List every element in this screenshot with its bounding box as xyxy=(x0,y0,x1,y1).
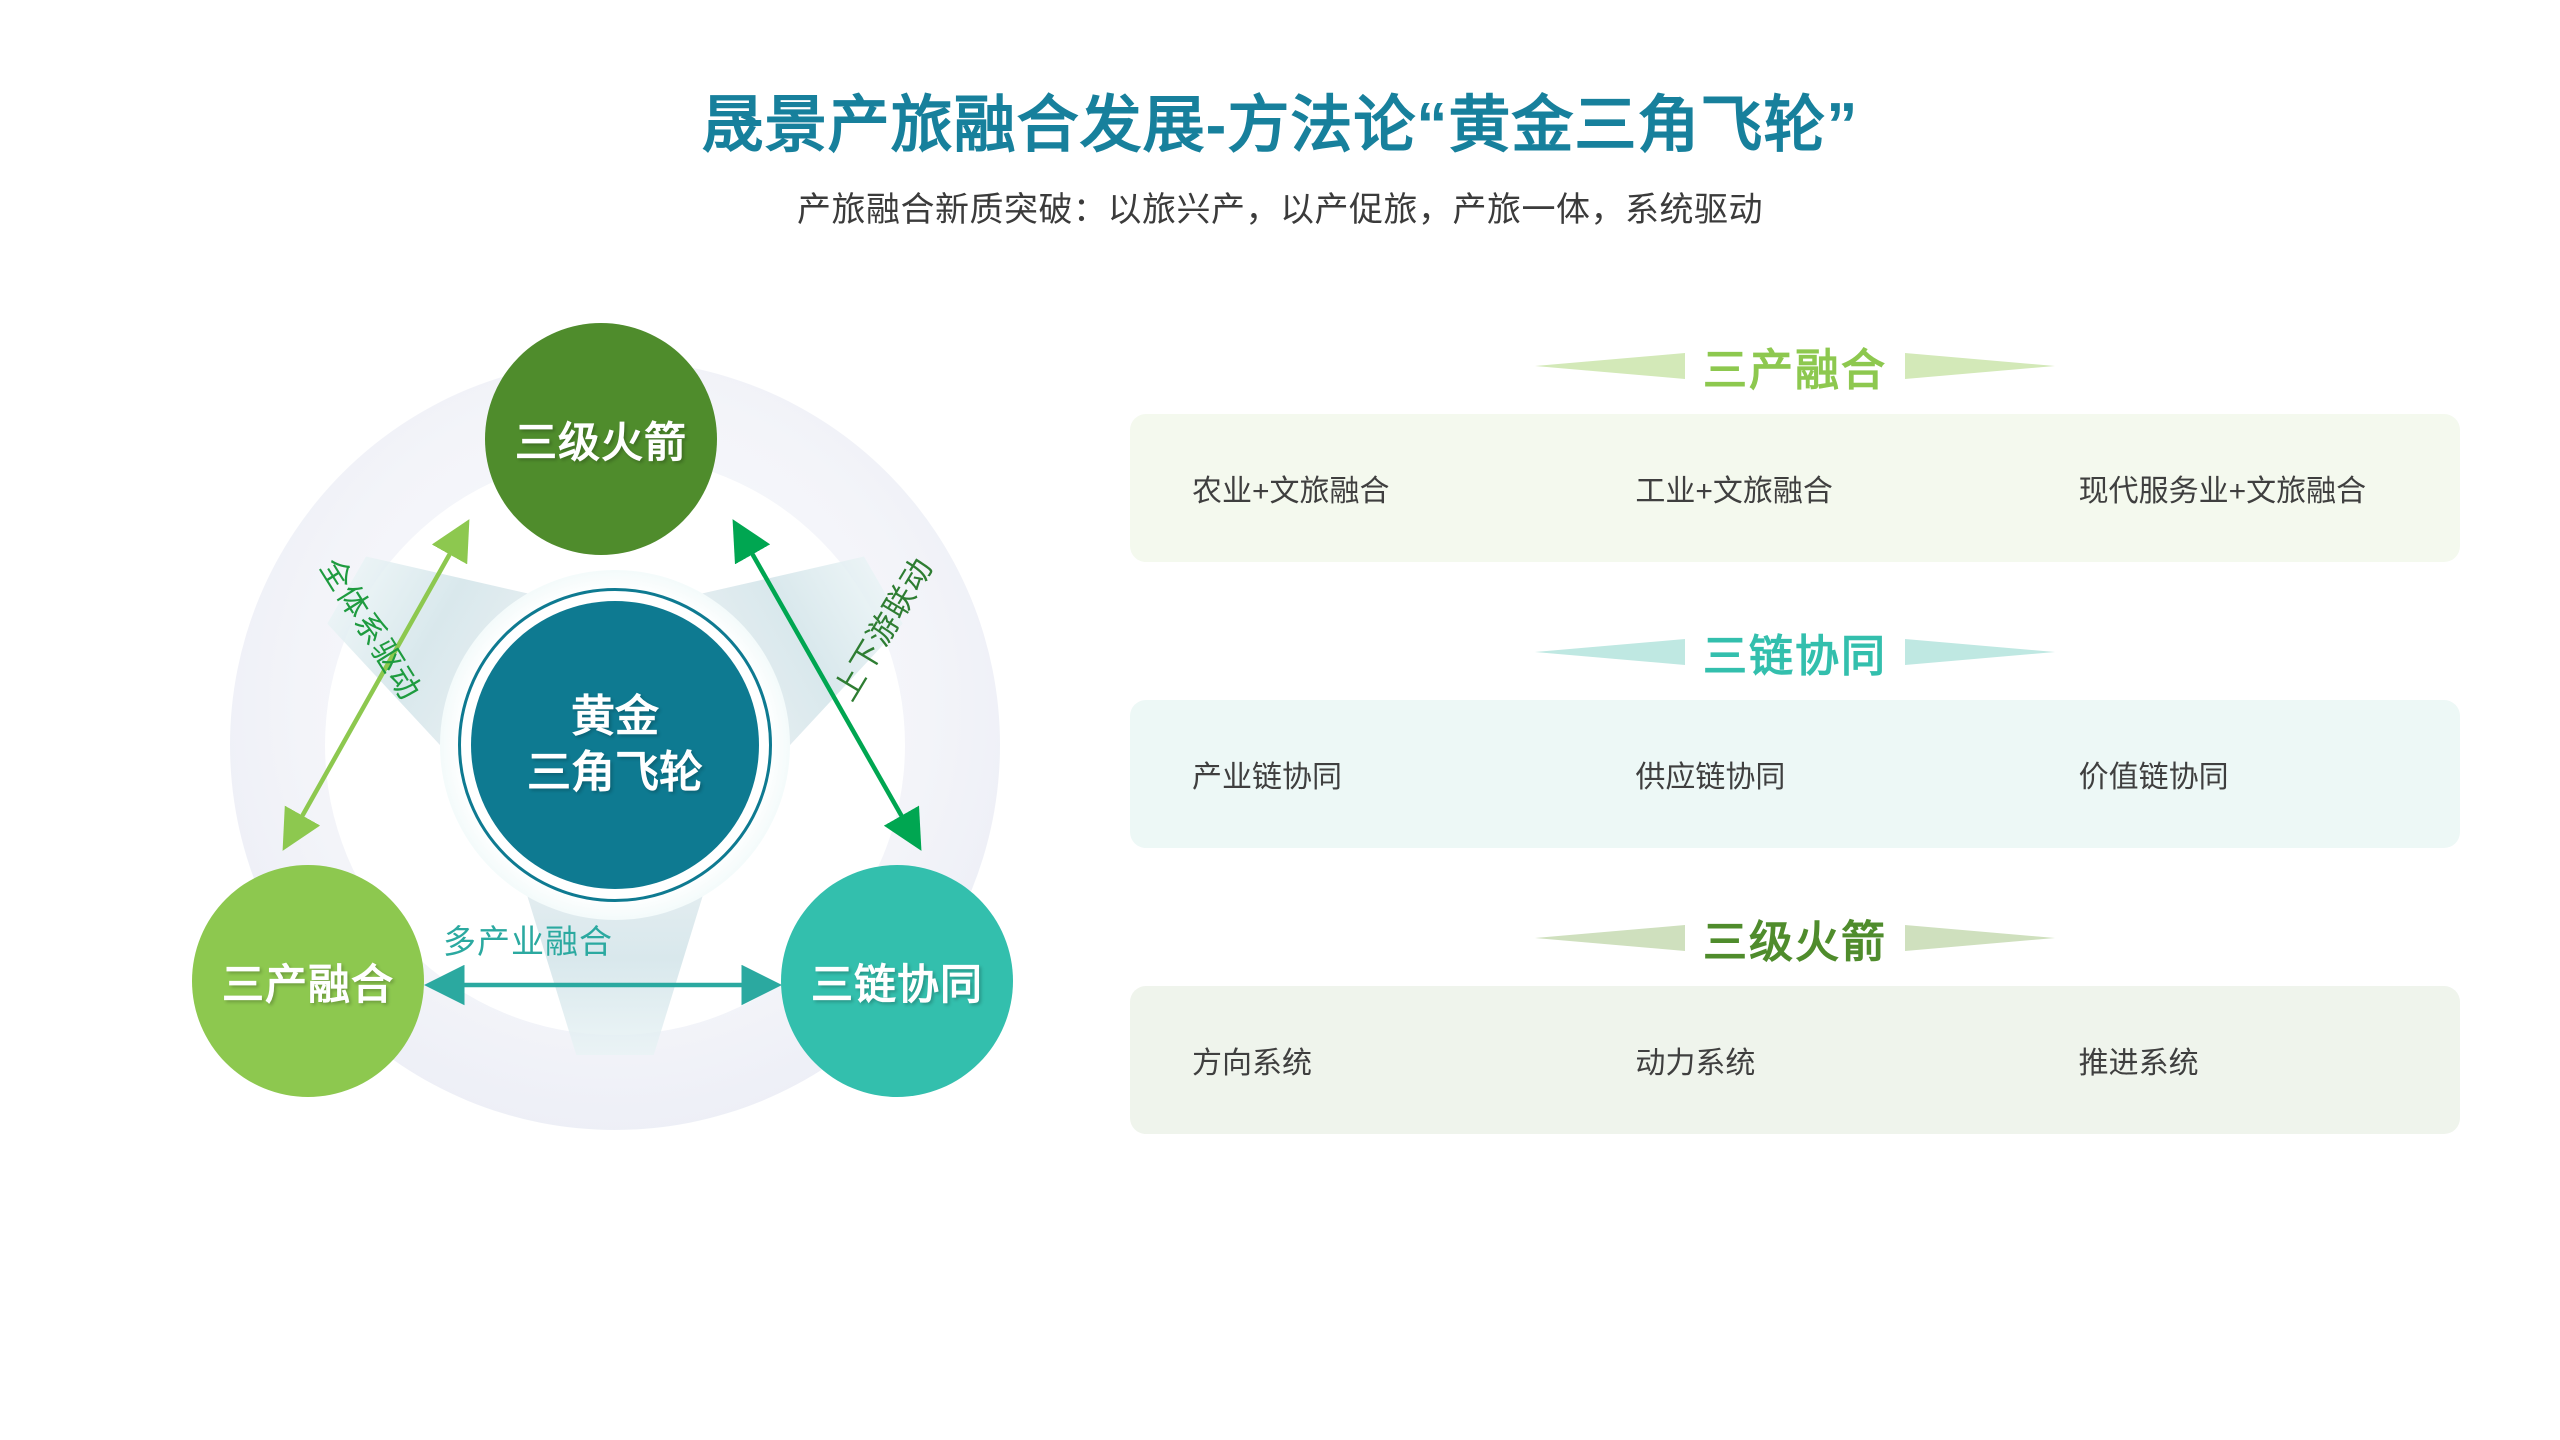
section-title: 三链协同 xyxy=(1703,620,1887,684)
node-three-chain-synergy[interactable]: 三链协同 xyxy=(781,865,1013,1097)
section-three-industry-integration: 三产融合 农业+文旅融合 工业+文旅融合 现代服务业+文旅融合 xyxy=(1130,330,2460,562)
node-three-industry-integration[interactable]: 三产融合 xyxy=(192,865,424,1097)
page-title: 晟景产旅融合发展-方法论“黄金三角飞轮” xyxy=(0,92,2560,160)
center-node-label-line2: 三角飞轮 xyxy=(527,745,703,801)
card-item[interactable]: 动力系统 xyxy=(1573,1038,2016,1082)
card-item[interactable]: 方向系统 xyxy=(1130,1038,1573,1082)
card-item[interactable]: 工业+文旅融合 xyxy=(1573,466,2016,510)
card-item[interactable]: 现代服务业+文旅融合 xyxy=(2017,466,2460,510)
section-header: 三级火箭 xyxy=(1130,902,2460,974)
wedge-left-icon xyxy=(1535,353,1685,379)
node-three-stage-rocket[interactable]: 三级火箭 xyxy=(485,323,717,555)
section-header: 三产融合 xyxy=(1130,330,2460,402)
center-node-golden-triangle-flywheel[interactable]: 黄金 三角飞轮 xyxy=(471,601,759,889)
section-header: 三链协同 xyxy=(1130,616,2460,688)
section-three-chain-synergy: 三链协同 产业链协同 供应链协同 价值链协同 xyxy=(1130,616,2460,848)
edge-label-bottom: 多产业融合 xyxy=(443,915,613,963)
center-node-label-line1: 黄金 xyxy=(571,689,659,745)
page-header: 晟景产旅融合发展-方法论“黄金三角飞轮” 产旅融合新质突破：以旅兴产，以产促旅，… xyxy=(0,92,2560,231)
wedge-left-icon xyxy=(1535,925,1685,951)
wedge-right-icon xyxy=(1905,639,2055,665)
card-item[interactable]: 农业+文旅融合 xyxy=(1130,466,1573,510)
section-title: 三产融合 xyxy=(1703,334,1887,398)
card-item[interactable]: 产业链协同 xyxy=(1130,752,1573,796)
section-title: 三级火箭 xyxy=(1703,906,1887,970)
card-item[interactable]: 供应链协同 xyxy=(1573,752,2016,796)
card-item[interactable]: 推进系统 xyxy=(2017,1038,2460,1082)
page-subtitle: 产旅融合新质突破：以旅兴产，以产促旅，产旅一体，系统驱动 xyxy=(0,182,2560,231)
wedge-right-icon xyxy=(1905,353,2055,379)
section-three-stage-rocket: 三级火箭 方向系统 动力系统 推进系统 xyxy=(1130,902,2460,1134)
pillars-panel: 三产融合 农业+文旅融合 工业+文旅融合 现代服务业+文旅融合 三链协同 产业链… xyxy=(1130,330,2460,1134)
wedge-right-icon xyxy=(1905,925,2055,951)
section-card: 方向系统 动力系统 推进系统 xyxy=(1130,986,2460,1134)
section-card: 产业链协同 供应链协同 价值链协同 xyxy=(1130,700,2460,848)
section-card: 农业+文旅融合 工业+文旅融合 现代服务业+文旅融合 xyxy=(1130,414,2460,562)
card-item[interactable]: 价值链协同 xyxy=(2017,752,2460,796)
wedge-left-icon xyxy=(1535,639,1685,665)
golden-triangle-flywheel-diagram: 全体系驱动 上下游联动 多产业融合 黄金 三角飞轮 三级火箭 三产融合 三链协同 xyxy=(175,305,1055,1185)
